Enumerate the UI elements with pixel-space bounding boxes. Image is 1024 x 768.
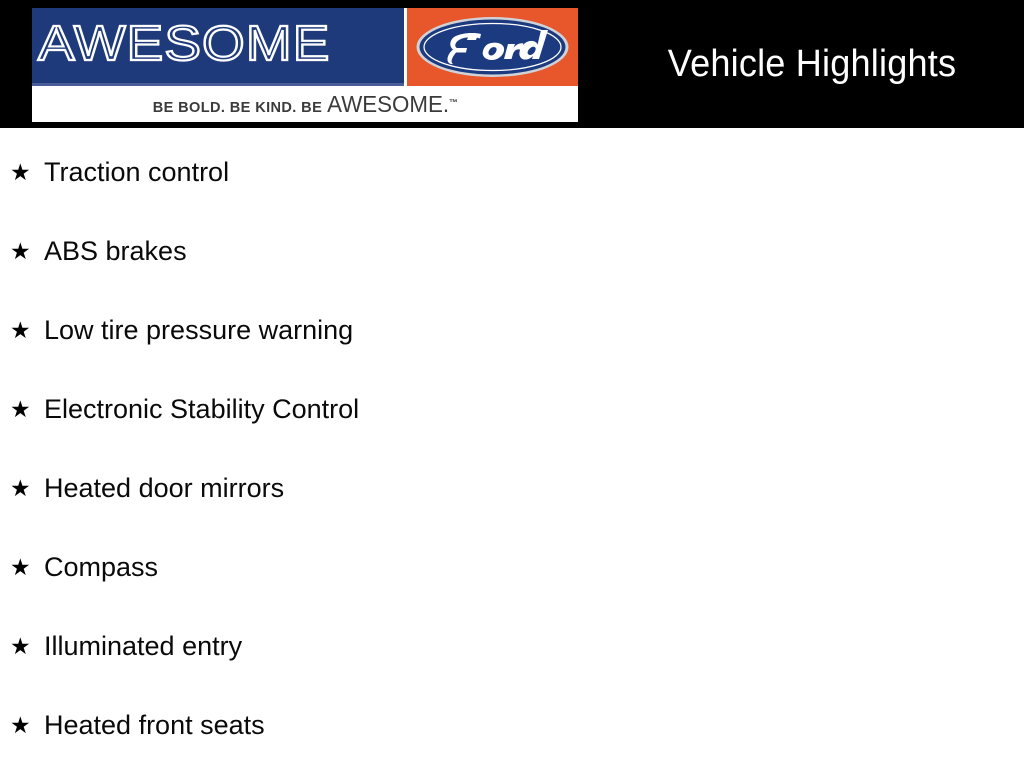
star-icon: ★ (10, 312, 44, 348)
list-item-label: Illuminated entry (44, 628, 242, 664)
list-item-label: Compass (44, 549, 158, 585)
logo-tagline: BE BOLD. BE KIND. BE AWESOME.™ (152, 91, 457, 118)
list-item-label: Heated door mirrors (44, 470, 284, 506)
star-icon: ★ (10, 707, 44, 743)
highlights-list: ★ Traction control ★ ABS brakes ★ Low ti… (0, 128, 1024, 768)
list-item-label: Traction control (44, 154, 229, 190)
star-icon: ★ (10, 391, 44, 427)
tagline-lead: BE BOLD. BE KIND. BE (152, 99, 321, 116)
star-icon: ★ (10, 549, 44, 585)
logo-ford-panel (407, 8, 578, 86)
star-icon: ★ (10, 628, 44, 664)
tagline-emphasis: AWESOME. (327, 91, 449, 117)
star-icon: ★ (10, 233, 44, 269)
list-item: ★ Compass (10, 549, 158, 585)
tagline-trademark-icon: ™ (449, 97, 458, 107)
header-bar: AWESOME (0, 0, 1024, 128)
list-item-label: ABS brakes (44, 233, 187, 269)
vehicle-highlights-slide: AWESOME (0, 0, 1024, 768)
ford-oval-icon (415, 15, 570, 79)
list-item-label: Heated front seats (44, 707, 265, 743)
list-item: ★ Low tire pressure warning (10, 312, 353, 348)
logo-name-panel: AWESOME (32, 8, 404, 86)
list-item-label: Low tire pressure warning (44, 312, 353, 348)
logo-tagline-strip: BE BOLD. BE KIND. BE AWESOME.™ (32, 86, 578, 122)
list-item: ★ Heated front seats (10, 707, 265, 743)
logo-upper-row: AWESOME (32, 8, 578, 86)
list-item: ★ Electronic Stability Control (10, 391, 359, 427)
list-item: ★ Illuminated entry (10, 628, 242, 664)
star-icon: ★ (10, 470, 44, 506)
list-item: ★ Heated door mirrors (10, 470, 284, 506)
list-item: ★ Traction control (10, 154, 229, 190)
page-title: Vehicle Highlights (611, 0, 1014, 128)
logo-wordmark-awesome: AWESOME (38, 16, 330, 72)
star-icon: ★ (10, 154, 44, 190)
list-item-label: Electronic Stability Control (44, 391, 359, 427)
list-item: ★ ABS brakes (10, 233, 187, 269)
dealer-logo: AWESOME (32, 8, 578, 122)
